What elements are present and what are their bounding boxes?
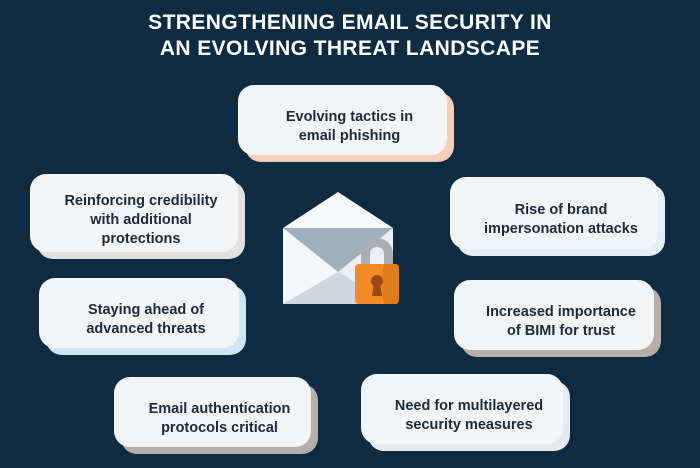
callout-email-authentication[interactable]: Email authentication protocols critical bbox=[121, 384, 318, 454]
callout-line-2: with additional bbox=[90, 212, 192, 228]
callout-line-1: Staying ahead of bbox=[88, 302, 204, 318]
callout-line-2: email phishing bbox=[299, 128, 401, 144]
callout-label: Reinforcing credibility with additional … bbox=[64, 192, 217, 249]
callout-label: Need for multilayered security measures bbox=[395, 397, 543, 435]
callout-multilayered-security[interactable]: Need for multilayered security measures bbox=[368, 381, 570, 451]
callout-line-1: Need for multilayered bbox=[395, 398, 543, 414]
callout-reinforcing-credibility[interactable]: Reinforcing credibility with additional … bbox=[37, 181, 245, 259]
callout-line-2: advanced threats bbox=[86, 321, 205, 337]
callout-bimi-trust[interactable]: Increased importance of BIMI for trust bbox=[461, 287, 661, 357]
callout-line-1: Increased importance bbox=[486, 304, 636, 320]
callout-line-2: of BIMI for trust bbox=[507, 323, 615, 339]
callout-line-2: security measures bbox=[405, 417, 532, 433]
callout-staying-ahead[interactable]: Staying ahead of advanced threats bbox=[46, 285, 246, 355]
callout-line-2: protocols critical bbox=[161, 420, 278, 436]
callout-line-2: impersonation attacks bbox=[484, 221, 638, 237]
callout-evolving-tactics[interactable]: Evolving tactics in email phishing bbox=[245, 92, 454, 162]
page-title-line-1: STRENGTHENING EMAIL SECURITY IN bbox=[0, 10, 700, 36]
callout-label: Increased importance of BIMI for trust bbox=[486, 303, 636, 341]
callout-line-1: Rise of brand bbox=[515, 202, 608, 218]
callout-line-3: protections bbox=[102, 231, 181, 247]
infographic-canvas: STRENGTHENING EMAIL SECURITY IN AN EVOLV… bbox=[0, 0, 700, 468]
page-title: STRENGTHENING EMAIL SECURITY IN AN EVOLV… bbox=[0, 10, 700, 62]
callout-label: Rise of brand impersonation attacks bbox=[484, 201, 638, 239]
callout-label: Evolving tactics in email phishing bbox=[286, 108, 413, 146]
callout-label: Email authentication protocols critical bbox=[149, 400, 291, 438]
callout-brand-impersonation[interactable]: Rise of brand impersonation attacks bbox=[457, 184, 665, 256]
callout-label: Staying ahead of advanced threats bbox=[86, 301, 205, 339]
callout-line-1: Reinforcing credibility bbox=[64, 193, 217, 209]
envelope-flap bbox=[283, 192, 393, 228]
padlock-body-shade bbox=[383, 264, 399, 304]
page-title-line-2: AN EVOLVING THREAT LANDSCAPE bbox=[0, 36, 700, 62]
callout-line-1: Evolving tactics in bbox=[286, 109, 413, 125]
callout-line-1: Email authentication bbox=[149, 401, 291, 417]
secure-email-icon bbox=[283, 192, 417, 304]
